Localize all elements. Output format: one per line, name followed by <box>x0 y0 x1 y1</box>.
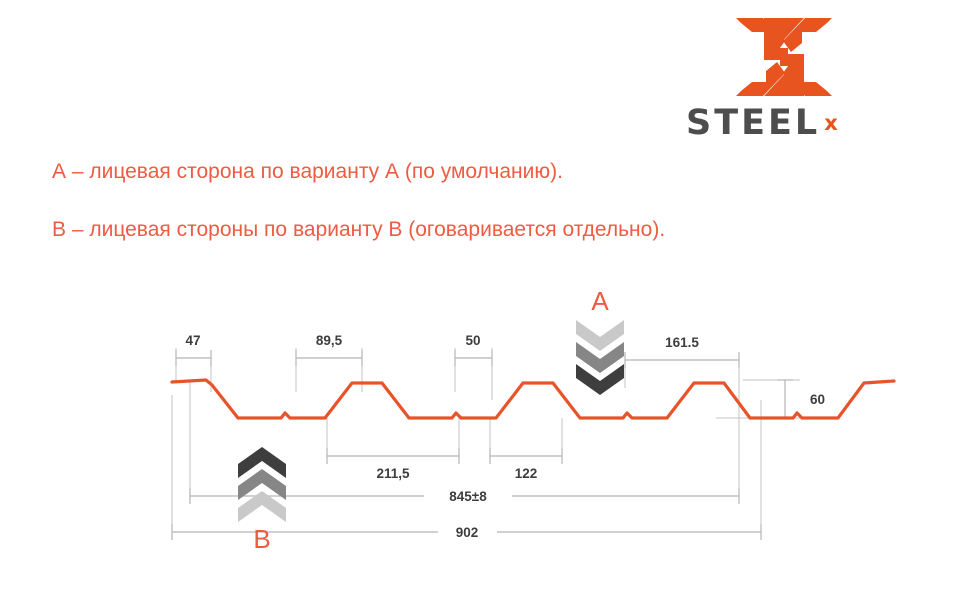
logo-x-superscript: x <box>824 113 838 134</box>
marker-b: B <box>238 447 286 554</box>
dimension-label-845: 845±8 <box>449 489 487 504</box>
marker-a-label: A <box>591 286 609 316</box>
variant-b-description: В – лицевая стороны по варианту В (огова… <box>52 218 665 242</box>
marker-b-chevrons <box>238 447 286 522</box>
dimension-label-211-5: 211,5 <box>376 466 410 481</box>
dimension-label-902: 902 <box>456 525 479 540</box>
page-canvas: STEEL x А – лицевая сторона по варианту … <box>0 0 970 597</box>
dimension-label-89-5: 89,5 <box>316 333 343 348</box>
variant-a-description: А – лицевая сторона по варианту А (по ум… <box>52 160 563 184</box>
marker-a-chevrons <box>576 320 624 395</box>
dimension-label-47: 47 <box>185 333 200 348</box>
dimension-lines <box>172 350 793 540</box>
marker-a: A <box>576 286 624 395</box>
dimension-label-122: 122 <box>515 466 538 481</box>
corrugated-profile-path <box>172 380 894 418</box>
logo-steel-text: STEEL <box>686 106 820 141</box>
dimension-label-50: 50 <box>465 333 480 348</box>
steelx-x-mark-icon <box>736 18 832 96</box>
profile-technical-drawing: A B 47 89,5 50 161.5 21 <box>0 270 970 570</box>
marker-b-label: B <box>253 524 270 554</box>
logo-wordmark: STEEL x <box>686 106 882 140</box>
brand-logo: STEEL x <box>686 18 882 138</box>
dimension-label-161-5: 161.5 <box>665 335 699 350</box>
dimension-label-60: 60 <box>810 392 825 407</box>
